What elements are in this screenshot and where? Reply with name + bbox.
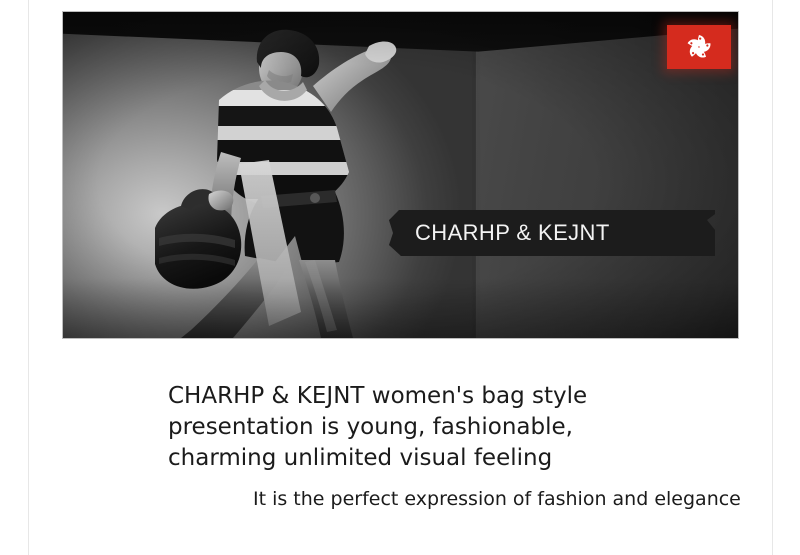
caption-paragraph: CHARHP & KEJNT women's bag style present… (168, 381, 638, 474)
brand-banner: CHARHP & KEJNT (389, 210, 715, 256)
right-column-rule (772, 0, 773, 555)
studio-floor-shadow (63, 278, 738, 338)
caption-subline: It is the perfect expression of fashion … (253, 486, 741, 512)
page-canvas: CHARHP & KEJNT CHARHP & KEJNT women's ba… (0, 0, 800, 555)
brand-banner-label: CHARHP & KEJNT (389, 220, 610, 246)
hero-photo[interactable]: CHARHP & KEJNT (63, 12, 738, 338)
left-column-rule (28, 0, 29, 555)
hong-kong-flag-icon (667, 25, 731, 69)
